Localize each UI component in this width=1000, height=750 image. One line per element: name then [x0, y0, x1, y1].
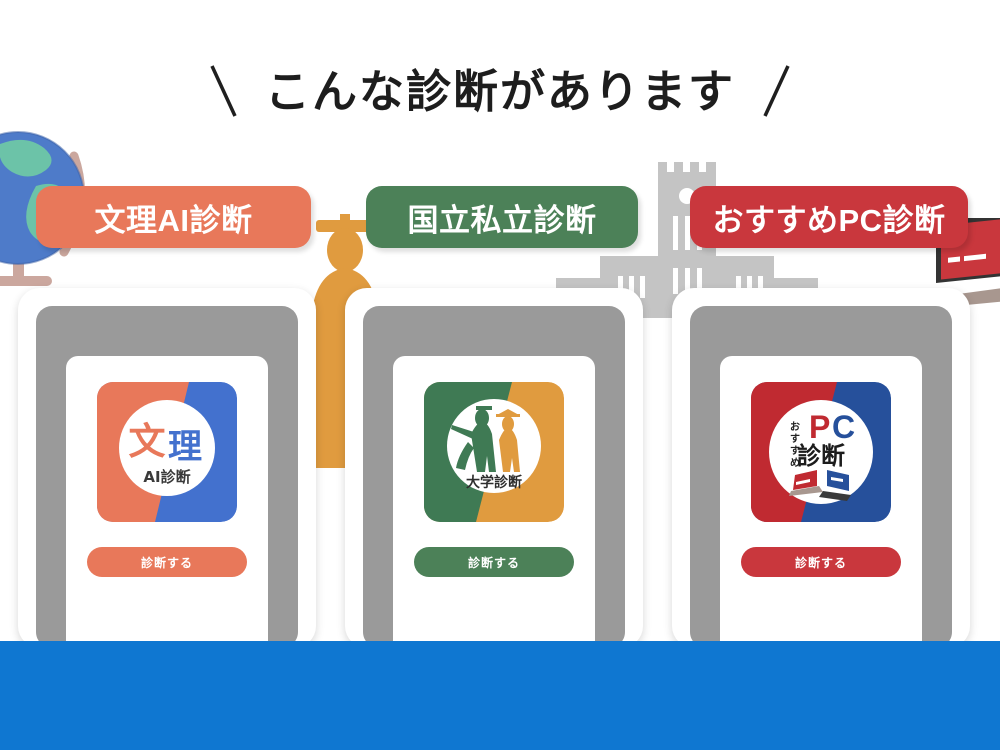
tab-kokuritsu-shiritsu-shindan[interactable]: 国立私立診断 [366, 186, 638, 248]
shindan-suru-button[interactable]: 診断する [87, 547, 247, 577]
daigaku-shindan-icon: 大学診断 [424, 382, 564, 522]
slash-left-icon [209, 62, 239, 120]
svg-text:理: 理 [168, 427, 202, 467]
svg-text:P: P [809, 409, 830, 445]
shindan-suru-button[interactable]: 診断する [741, 547, 901, 577]
tab-osusume-pc-shindan[interactable]: おすすめPC診断 [690, 186, 968, 248]
slide-canvas: こんな診断があります 文理AI診断 国立私立診断 おすすめPC診断 文 理 [0, 0, 1000, 750]
tab-label: 文理AI診断 [95, 195, 253, 240]
tab-label: 国立私立診断 [408, 195, 597, 240]
card-inner-panel: 文 理 AI診断 診断する [36, 306, 298, 648]
tab-bunri-ai-shindan[interactable]: 文理AI診断 [36, 186, 311, 248]
card-bunri-ai-shindan[interactable]: 文 理 AI診断 診断する [18, 288, 316, 648]
svg-text:診断: 診断 [797, 442, 845, 470]
card-inner-panel: お す す め P C 診断 [690, 306, 952, 648]
card-content: 文 理 AI診断 診断する [66, 356, 268, 656]
card-content: 大学診断 診断する [393, 356, 595, 656]
osusume-pc-shindan-icon: お す す め P C 診断 [751, 382, 891, 522]
bottom-accent-band [0, 641, 1000, 750]
card-content: お す す め P C 診断 [720, 356, 922, 656]
svg-text:お: お [790, 421, 800, 433]
page-title: こんな診断があります [0, 62, 1000, 120]
svg-text:大学診断: 大学診断 [466, 474, 522, 491]
tab-label: おすすめPC診断 [712, 195, 945, 240]
page-title-text: こんな診断があります [265, 69, 735, 114]
bunri-ai-shindan-icon: 文 理 AI診断 [97, 382, 237, 522]
shindan-suru-button[interactable]: 診断する [414, 547, 574, 577]
card-osusume-pc-shindan[interactable]: お す す め P C 診断 [672, 288, 970, 648]
svg-text:AI診断: AI診断 [143, 468, 190, 486]
slash-right-icon [761, 62, 791, 120]
svg-text:C: C [832, 409, 855, 445]
svg-text:文: 文 [129, 420, 166, 463]
card-kokuritsu-shiritsu-shindan[interactable]: 大学診断 診断する [345, 288, 643, 648]
card-inner-panel: 大学診断 診断する [363, 306, 625, 648]
